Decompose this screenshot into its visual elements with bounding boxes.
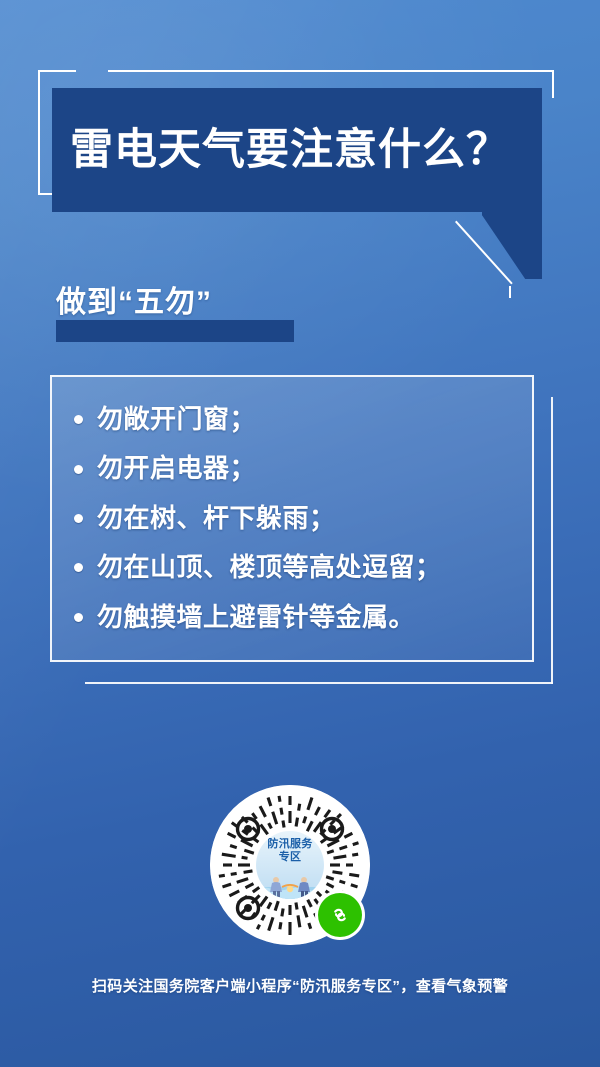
qr-center-emblem: 防汛服务 专区	[256, 831, 324, 899]
qr-center-label-line2: 专区	[256, 851, 324, 864]
bracket-left-edge	[38, 70, 40, 195]
bracket-top-segment-b	[108, 70, 554, 72]
flood-rescue-illustration	[256, 873, 324, 899]
header: 雷电天气要注意什么？	[0, 0, 600, 300]
subtitle-label: 做到“五勿”	[56, 284, 212, 322]
bullet-icon	[74, 415, 83, 424]
bullet-icon	[74, 514, 83, 523]
bracket-right-edge	[552, 70, 554, 98]
list-item-label: 勿在树、杆下躲雨；	[97, 503, 336, 534]
tail-diagonal-line	[455, 221, 513, 285]
outer-frame-bottom-edge	[85, 682, 553, 684]
subtitle: 做到“五勿”	[56, 284, 212, 346]
list-item: 勿在树、杆下躲雨；	[74, 503, 510, 534]
list-item-label: 勿在山顶、楼顶等高处逗留；	[97, 552, 442, 583]
list-item-label: 勿触摸墙上避雷针等金属。	[97, 602, 415, 633]
bullet-icon	[74, 613, 83, 622]
title-banner: 雷电天气要注意什么？	[52, 88, 542, 212]
tail-foot-line	[509, 286, 511, 298]
bullet-icon	[74, 563, 83, 572]
advice-list: 勿敞开门窗； 勿开启电器； 勿在树、杆下躲雨； 勿在山顶、楼顶等高处逗留； 勿触…	[50, 375, 534, 662]
qr-code-block[interactable]: 防汛服务 专区	[210, 785, 390, 945]
page-title: 雷电天气要注意什么？	[70, 129, 510, 172]
list-item: 勿开启电器；	[74, 453, 510, 484]
list-item: 勿触摸墙上避雷针等金属。	[74, 602, 510, 633]
qr-caption: 扫码关注国务院客户端小程序“防汛服务专区”，查看气象预警	[0, 975, 600, 996]
list-item-label: 勿敞开门窗；	[97, 404, 256, 435]
list-item: 勿敞开门窗；	[74, 404, 510, 435]
qr-center-label: 防汛服务 专区	[256, 838, 324, 863]
list-item-label: 勿开启电器；	[97, 453, 256, 484]
bullet-icon	[74, 465, 83, 474]
speech-bubble-tail-accent	[455, 222, 523, 294]
subtitle-underline-bar	[56, 320, 294, 342]
wechat-mini-program-icon[interactable]	[318, 893, 362, 937]
outer-frame-right-edge	[551, 397, 553, 684]
qr-center-label-line1: 防汛服务	[256, 838, 324, 851]
mini-program-glyph	[327, 902, 353, 928]
bracket-top-segment-a	[38, 70, 76, 72]
list-item: 勿在山顶、楼顶等高处逗留；	[74, 552, 510, 583]
